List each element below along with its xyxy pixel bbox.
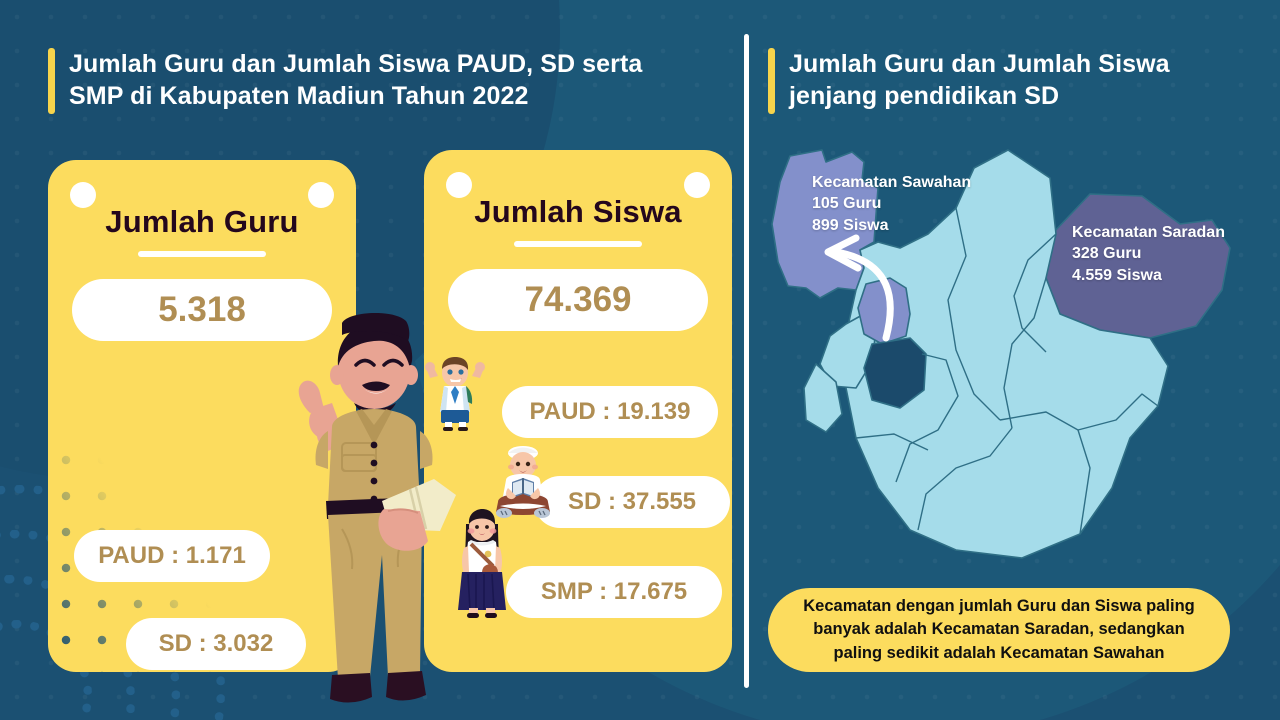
title-accent-bar xyxy=(48,48,55,114)
jumlah-siswa-total: 74.369 xyxy=(448,269,708,331)
map-label-saradan: Kecamatan Saradan 328 Guru 4.559 Siswa xyxy=(1072,222,1225,286)
summary-callout: Kecamatan dengan jumlah Guru dan Siswa p… xyxy=(768,588,1230,672)
jumlah-siswa-paud: PAUD : 19.139 xyxy=(502,386,718,438)
panel-divider xyxy=(744,34,749,688)
jumlah-siswa-sd: SD : 37.555 xyxy=(534,476,730,528)
student-smp-illustration xyxy=(454,508,510,620)
title-underline xyxy=(138,251,266,257)
title-underline xyxy=(514,241,642,247)
right-title-text: Jumlah Guru dan Jumlah Siswa jenjang pen… xyxy=(789,48,1170,112)
map-label-sawahan: Kecamatan Sawahan 105 Guru 899 Siswa xyxy=(812,172,971,236)
left-title-text: Jumlah Guru dan Jumlah Siswa PAUD, SD se… xyxy=(69,48,642,112)
left-panel-title: Jumlah Guru dan Jumlah Siswa PAUD, SD se… xyxy=(48,48,642,114)
jumlah-guru-paud: PAUD : 1.171 xyxy=(74,530,270,582)
title-accent-bar xyxy=(768,48,775,114)
right-panel-title: Jumlah Guru dan Jumlah Siswa jenjang pen… xyxy=(768,48,1170,114)
summary-callout-text: Kecamatan dengan jumlah Guru dan Siswa p… xyxy=(803,595,1195,665)
jumlah-guru-title: Jumlah Guru xyxy=(48,204,356,240)
jumlah-siswa-title: Jumlah Siswa xyxy=(424,194,732,230)
jumlah-siswa-smp: SMP : 17.675 xyxy=(506,566,722,618)
student-paud-illustration xyxy=(424,356,486,432)
